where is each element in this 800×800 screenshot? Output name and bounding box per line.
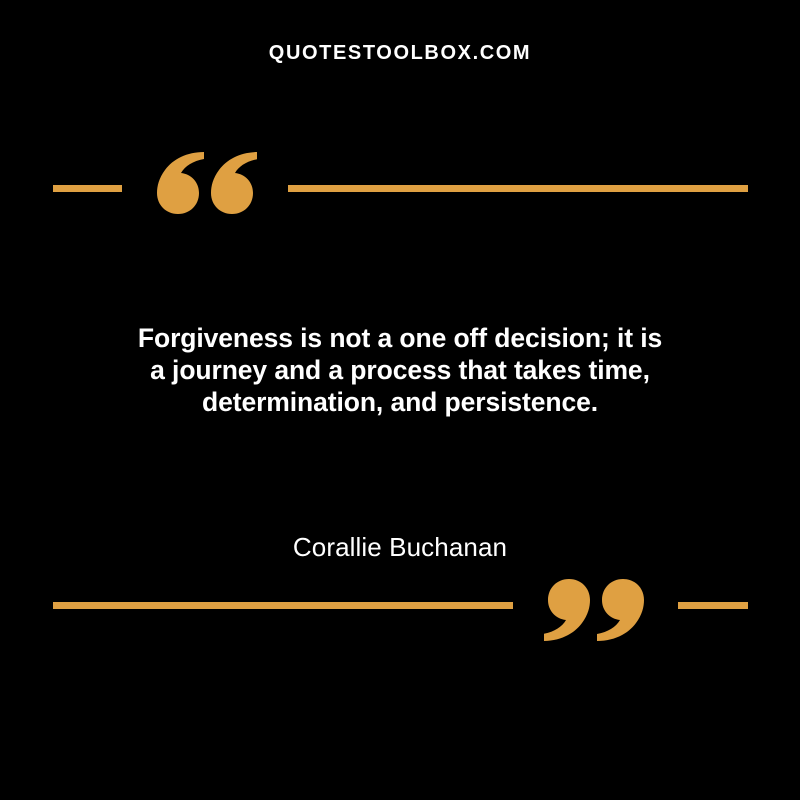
- quote-line: determination, and persistence.: [90, 386, 710, 418]
- close-double-quote-icon: [544, 579, 644, 641]
- bottom-left-long-rule: [53, 602, 513, 609]
- bottom-ornament-row: [0, 569, 800, 641]
- top-right-long-rule: [288, 185, 748, 192]
- quote-text: Forgiveness is not a one off decision; i…: [90, 322, 710, 418]
- quote-line: Forgiveness is not a one off decision; i…: [90, 322, 710, 354]
- site-brand-header: QUOTESTOOLBOX.COM: [0, 41, 800, 65]
- top-left-short-rule: [53, 185, 122, 192]
- quote-author: Corallie Buchanan: [90, 531, 710, 563]
- bottom-right-short-rule: [678, 602, 748, 609]
- quote-line: a journey and a process that takes time,: [90, 354, 710, 386]
- quote-card: QUOTESTOOLBOX.COM Forgiveness is not a o…: [0, 0, 800, 800]
- open-double-quote-icon: [157, 152, 257, 214]
- top-ornament-row: [0, 152, 800, 224]
